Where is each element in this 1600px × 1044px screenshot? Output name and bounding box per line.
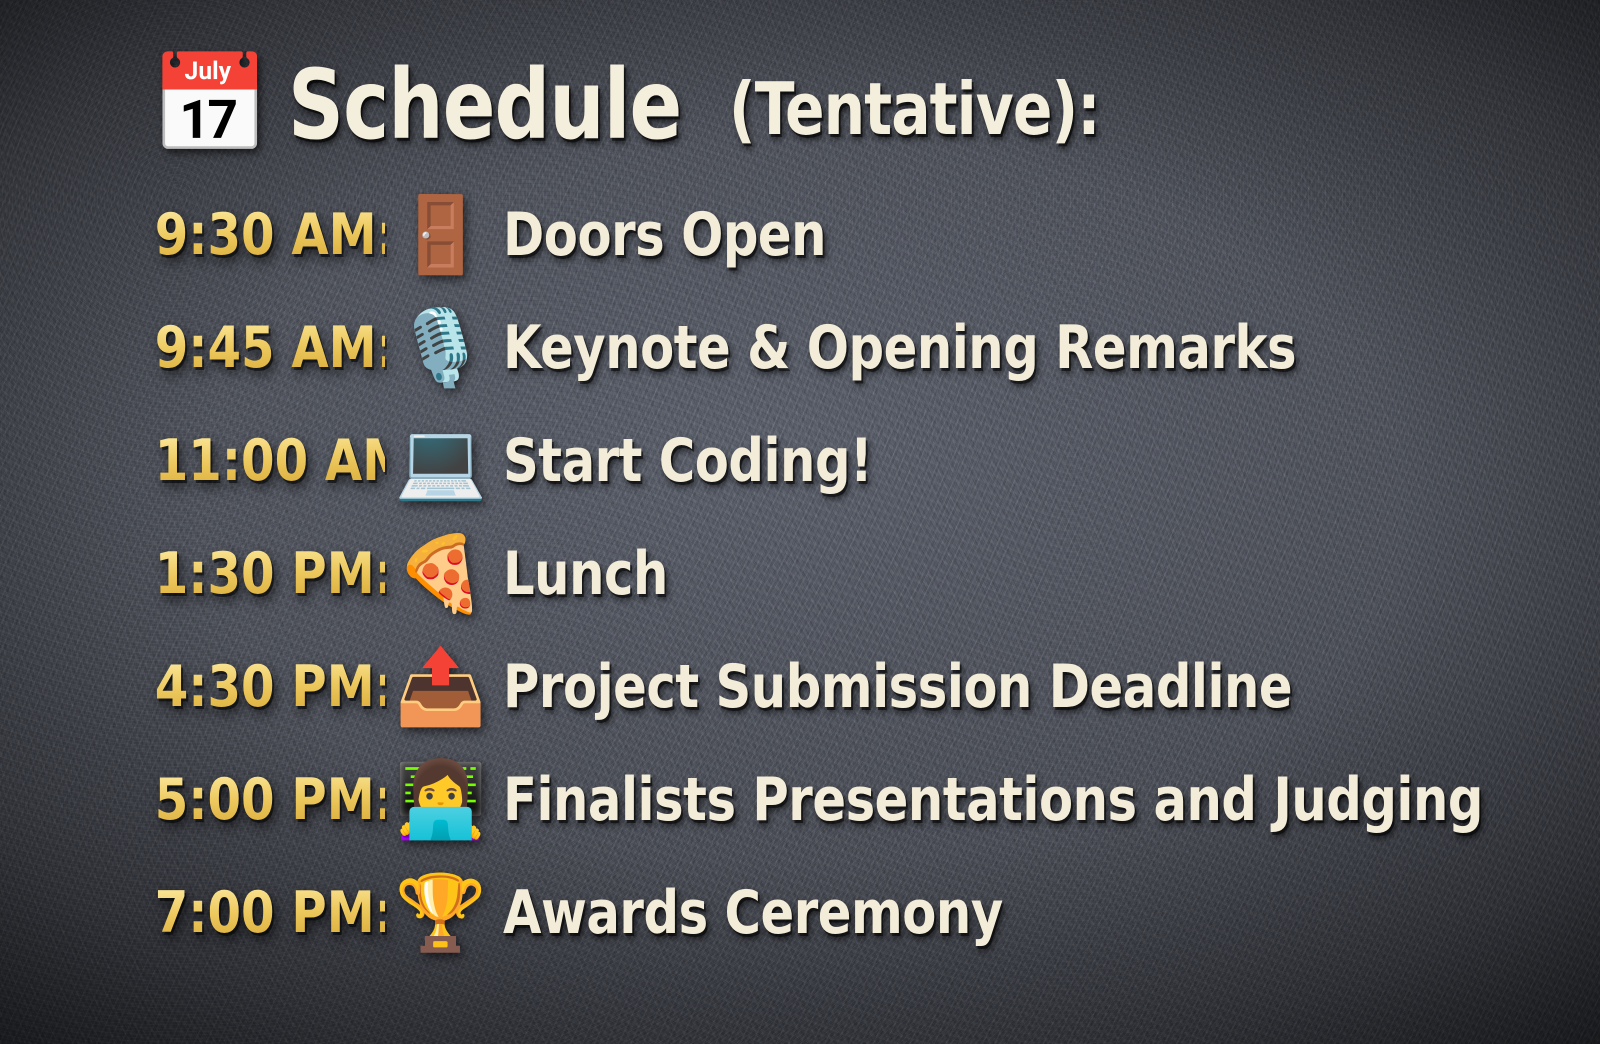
schedule-label: Lunch <box>503 539 668 609</box>
schedule-time: 1:30 PM: <box>155 541 385 607</box>
pizza-emoji: 🍕 <box>385 537 497 611</box>
schedule-row: 4:30 PM:📤Project Submission Deadline <box>0 630 1600 743</box>
trophy-emoji: 🏆 <box>385 876 497 950</box>
schedule-time: 4:30 PM: <box>155 654 385 720</box>
slide-content: 📅 Schedule (Tentative): 9:30 AM:🚪Doors O… <box>0 0 1600 1044</box>
schedule-row: 11:00 AM:💻Start Coding! <box>0 404 1600 517</box>
door-emoji: 🚪 <box>385 198 497 272</box>
page-title-qualifier: (Tentative): <box>729 67 1100 151</box>
schedule-time: 9:30 AM: <box>155 202 385 268</box>
outbox-tray-emoji: 📤 <box>385 650 497 724</box>
schedule-label: Doors Open <box>503 200 826 270</box>
woman-technologist-emoji: 👩‍💻 <box>385 763 497 837</box>
slide-title: 📅 Schedule (Tentative): <box>150 40 1140 170</box>
schedule-time: 9:45 AM: <box>155 315 385 381</box>
calendar-emoji: 📅 <box>150 57 270 153</box>
schedule-row: 7:00 PM:🏆Awards Ceremony <box>0 856 1600 969</box>
schedule-row: 9:45 AM:🎙️Keynote & Opening Remarks <box>0 291 1600 404</box>
schedule-label: Keynote & Opening Remarks <box>503 313 1296 383</box>
schedule-time: 7:00 PM: <box>155 880 385 946</box>
studio-microphone-emoji: 🎙️ <box>385 311 497 385</box>
laptop-emoji: 💻 <box>385 424 497 498</box>
schedule-list: 9:30 AM:🚪Doors Open9:45 AM:🎙️Keynote & O… <box>0 178 1600 969</box>
page-title: Schedule <box>288 49 681 161</box>
schedule-label: Finalists Presentations and Judging <box>503 765 1483 835</box>
schedule-label: Start Coding! <box>503 426 872 496</box>
schedule-row: 1:30 PM:🍕Lunch <box>0 517 1600 630</box>
schedule-time: 11:00 AM: <box>155 428 385 494</box>
schedule-row: 9:30 AM:🚪Doors Open <box>0 178 1600 291</box>
schedule-time: 5:00 PM: <box>155 767 385 833</box>
schedule-row: 5:00 PM:👩‍💻Finalists Presentations and J… <box>0 743 1600 856</box>
schedule-label: Awards Ceremony <box>503 878 1003 948</box>
schedule-label: Project Submission Deadline <box>503 652 1292 722</box>
